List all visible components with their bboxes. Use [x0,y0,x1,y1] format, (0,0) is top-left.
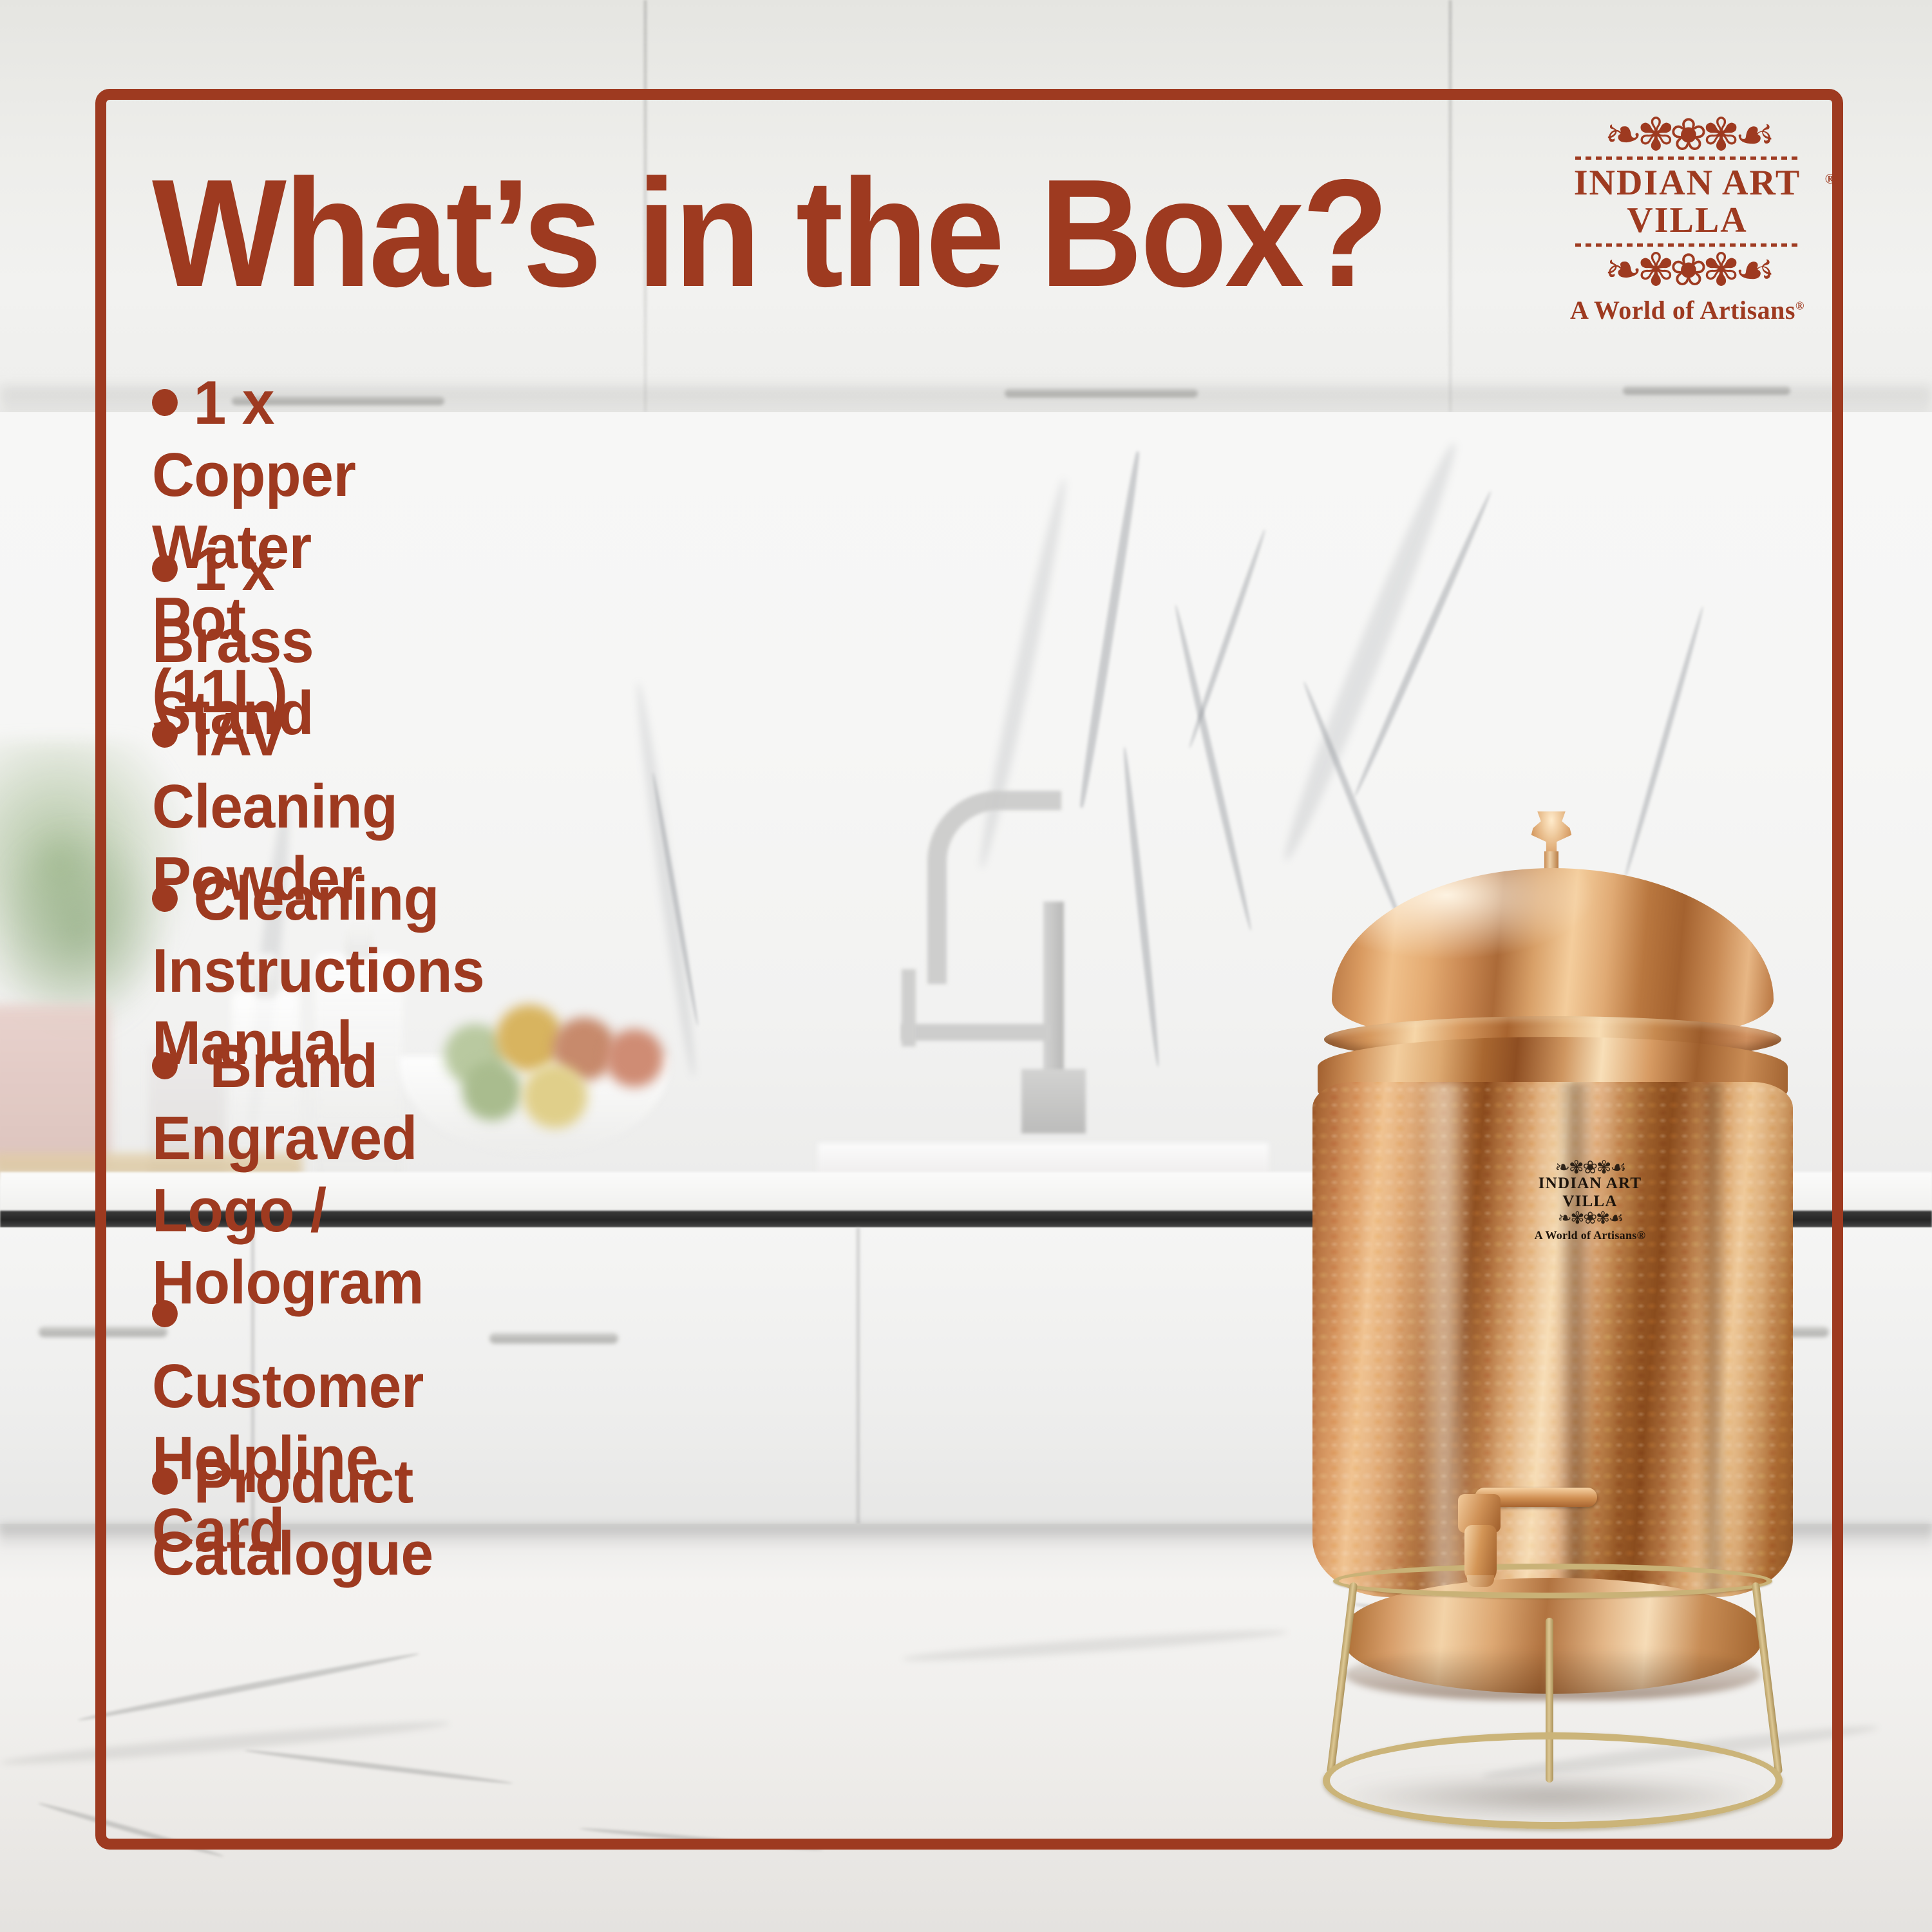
list-item: Product Catalogue [152,1446,433,1590]
tap-tip [1467,1575,1494,1587]
logo-tagline: A World of Artisans® [1570,295,1804,325]
pot-tap[interactable] [1441,1488,1526,1584]
bullet-dot-icon [152,721,178,748]
bullet-dot-icon [152,885,178,912]
bullet-dot-icon [152,555,178,582]
list-item-label: Product Catalogue [152,1447,433,1588]
bullet-dot-icon [152,1052,178,1079]
bullet-dot-icon [152,1300,178,1327]
logo-ornament-top-icon: ❧✾❀✾☙ [1558,117,1816,152]
poster-canvas: ❧✾❀✾☙ INDIAN ART VILLA ❧✾❀✾☙ A World of … [0,0,1932,1932]
bullet-dot-icon [152,389,178,416]
bullet-dot-icon [152,1468,178,1495]
logo-ornament-bottom-icon: ❧✾❀✾☙ [1558,251,1816,289]
page-title: What’s in the Box? [152,153,1387,314]
registered-mark-icon: ® [1825,160,1837,198]
logo-brand-name: INDIAN ART VILLA® [1558,164,1816,239]
registered-mark-icon: ® [1795,299,1804,312]
list-item: Brand Engraved Logo / Hologram [152,1030,424,1319]
brand-logo: ❧✾❀✾☙ INDIAN ART VILLA® ❧✾❀✾☙ A World of… [1558,117,1816,325]
list-item-label: Brand Engraved Logo / Hologram [152,1032,424,1317]
